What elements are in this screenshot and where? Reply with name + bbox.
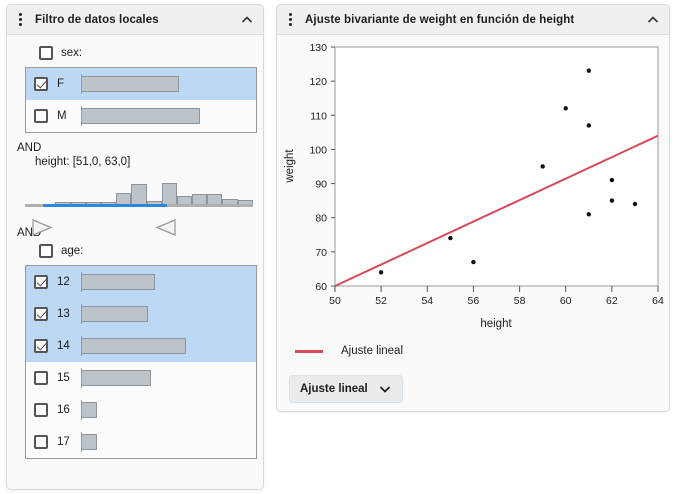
chevron-down-icon[interactable] — [378, 382, 392, 396]
svg-text:62: 62 — [606, 295, 618, 307]
age-13-checkbox[interactable] — [34, 307, 48, 321]
age-12-label: 12 — [57, 276, 81, 288]
kebab-menu-icon[interactable] — [283, 10, 297, 30]
list-item[interactable]: M — [26, 100, 256, 132]
sex-f-bar — [81, 76, 179, 92]
sex-field-checkbox[interactable] — [39, 46, 53, 60]
height-range-label: height: [51,0, 63,0] — [35, 156, 253, 168]
filter-field-age[interactable]: age: — [17, 241, 253, 261]
svg-text:60: 60 — [560, 295, 572, 307]
age-field-label: age: — [61, 245, 83, 257]
age-16-checkbox[interactable] — [34, 403, 48, 417]
list-item[interactable]: 14 — [26, 330, 256, 362]
svg-text:120: 120 — [309, 76, 327, 88]
local-data-filter-panel: Filtro de datos locales sex: F — [6, 4, 264, 490]
age-13-label: 13 — [57, 308, 81, 320]
data-point — [541, 164, 545, 168]
sex-field-label: sex: — [61, 47, 82, 59]
data-point — [587, 123, 591, 127]
svg-text:58: 58 — [514, 295, 526, 307]
age-value-list: 12 13 14 — [25, 265, 257, 459]
x-axis-title: height — [480, 318, 512, 330]
age-16-label: 16 — [57, 404, 81, 416]
legend-label-linear-fit: Ajuste lineal — [341, 345, 403, 357]
filter-panel-header: Filtro de datos locales — [7, 5, 263, 35]
age-12-checkbox[interactable] — [34, 275, 48, 289]
sex-f-checkbox[interactable] — [34, 77, 48, 91]
age-16-bar — [81, 402, 97, 418]
data-point — [448, 236, 452, 240]
svg-text:50: 50 — [329, 295, 341, 307]
y-axis-title: weight — [284, 149, 296, 184]
age-17-bar — [81, 434, 97, 450]
list-item[interactable]: 13 — [26, 298, 256, 330]
app-root: Filtro de datos locales sex: F — [0, 0, 676, 494]
slider-track-active — [43, 204, 167, 207]
fit-type-dropdown[interactable]: Ajuste lineal — [289, 375, 403, 403]
data-point — [471, 260, 475, 264]
svg-text:60: 60 — [315, 281, 327, 293]
svg-text:70: 70 — [315, 247, 327, 259]
height-histogram — [25, 175, 253, 205]
legend-swatch-linear-fit — [295, 350, 323, 353]
list-item[interactable]: F — [26, 68, 256, 100]
chevron-up-icon[interactable] — [239, 12, 255, 28]
list-item[interactable]: 17 — [26, 426, 256, 458]
sex-m-checkbox[interactable] — [34, 109, 48, 123]
data-point — [633, 202, 637, 206]
list-item[interactable]: 12 — [26, 266, 256, 298]
age-13-bar — [81, 306, 148, 322]
bivariate-fit-panel: Ajuste bivariante de weight en función d… — [276, 4, 670, 412]
filter-field-sex[interactable]: sex: — [17, 43, 253, 63]
data-point — [587, 212, 591, 216]
sex-value-list: F M — [25, 67, 257, 133]
age-17-checkbox[interactable] — [34, 435, 48, 449]
svg-text:100: 100 — [309, 144, 327, 156]
list-item[interactable]: 16 — [26, 394, 256, 426]
data-point — [587, 69, 591, 73]
y-axis-ticks: 130 120 110 100 90 80 70 60 — [309, 42, 335, 293]
age-15-bar — [81, 370, 151, 386]
age-16-bar-wrap — [81, 402, 256, 418]
filter-panel-title: Filtro de datos locales — [35, 14, 239, 26]
svg-text:110: 110 — [310, 110, 327, 122]
list-item[interactable]: 15 — [26, 362, 256, 394]
height-range-slider[interactable] — [25, 174, 253, 218]
chart-legend: Ajuste lineal — [295, 345, 403, 357]
data-point — [379, 270, 383, 274]
age-15-checkbox[interactable] — [34, 371, 48, 385]
svg-text:90: 90 — [315, 179, 327, 191]
scatter-plot[interactable]: 130 120 110 100 90 80 70 60 — [277, 35, 669, 335]
age-14-checkbox[interactable] — [34, 339, 48, 353]
chart-panel-body: 130 120 110 100 90 80 70 60 — [277, 35, 669, 411]
sex-m-label: M — [57, 110, 81, 122]
fit-type-dropdown-label: Ajuste lineal — [300, 383, 368, 395]
data-point — [564, 106, 568, 110]
data-point — [610, 198, 614, 202]
age-17-label: 17 — [57, 436, 81, 448]
svg-text:54: 54 — [421, 295, 433, 307]
age-14-bar — [81, 338, 186, 354]
age-12-bar-wrap — [81, 274, 256, 290]
sex-m-bar-wrap — [81, 108, 256, 124]
svg-text:130: 130 — [309, 42, 327, 54]
age-17-bar-wrap — [81, 434, 256, 450]
age-13-bar-wrap — [81, 306, 256, 322]
kebab-menu-icon[interactable] — [13, 10, 27, 30]
age-field-checkbox[interactable] — [39, 244, 53, 258]
svg-text:52: 52 — [375, 295, 387, 307]
filter-panel-body: sex: F M AND — [7, 35, 263, 489]
age-14-label: 14 — [57, 340, 81, 352]
sex-m-bar — [81, 108, 200, 124]
connector-and-1: AND — [17, 142, 253, 154]
age-15-bar-wrap — [81, 370, 256, 386]
age-12-bar — [81, 274, 155, 290]
sex-f-label: F — [57, 78, 81, 90]
sex-f-bar-wrap — [81, 76, 256, 92]
chart-panel-title: Ajuste bivariante de weight en función d… — [305, 14, 645, 26]
data-point — [610, 178, 614, 182]
chevron-up-icon[interactable] — [645, 12, 661, 28]
svg-text:56: 56 — [468, 295, 480, 307]
age-15-label: 15 — [57, 372, 81, 384]
age-14-bar-wrap — [81, 338, 256, 354]
svg-text:64: 64 — [652, 295, 664, 307]
svg-text:80: 80 — [315, 213, 327, 225]
chart-panel-header: Ajuste bivariante de weight en función d… — [277, 5, 669, 35]
x-axis-ticks: 50 52 54 56 58 60 62 64 — [329, 286, 664, 307]
